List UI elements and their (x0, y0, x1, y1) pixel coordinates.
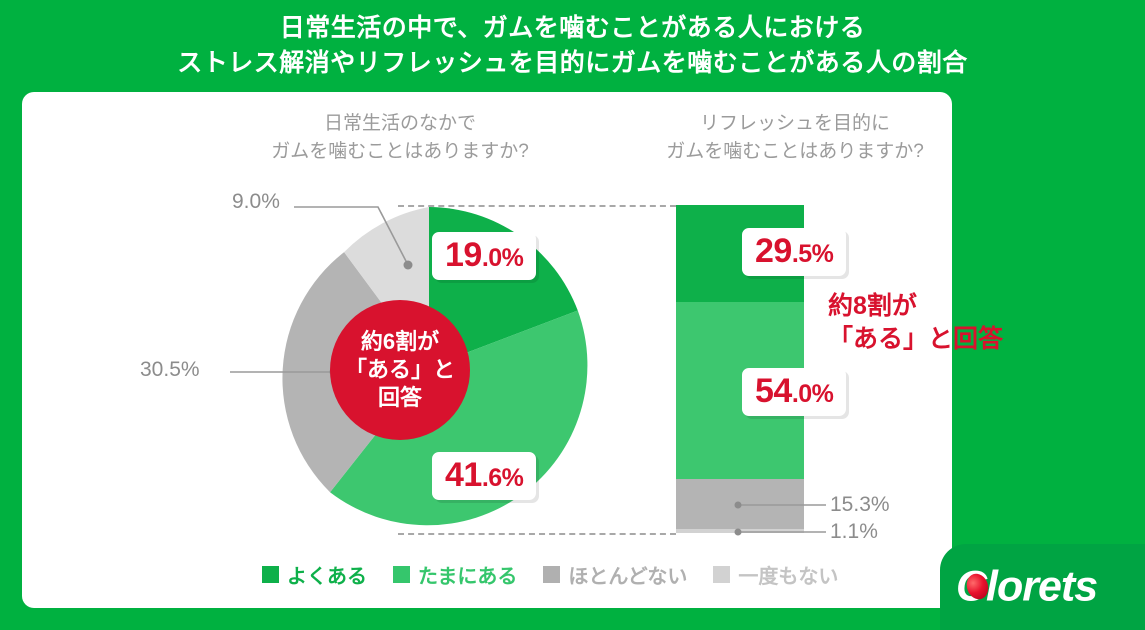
infographic-root: 日常生活の中で、ガムを噛むことがある人における ストレス解消やリフレッシュを目的… (0, 0, 1145, 630)
pie-label-ichidomonai: 9.0% (232, 190, 280, 214)
legend-label-yokuaru: よくある (287, 560, 367, 589)
pie-chart-question: 日常生活のなかで ガムを噛むことはありますか? (205, 110, 595, 165)
pie-callout-yokuaru-int: 19 (445, 236, 482, 274)
header-banner: 日常生活の中で、ガムを噛むことがある人における ストレス解消やリフレッシュを目的… (0, 0, 1145, 92)
legend-item-hotondonai[interactable]: ほとんどない (543, 560, 687, 589)
bar-chart-question: リフレッシュを目的に ガムを噛むことはありますか? (600, 110, 990, 165)
legend-label-tamaniaru: たまにある (418, 560, 517, 589)
legend-item-tamaniaru[interactable]: たまにある (393, 560, 517, 589)
header-title-line-1: 日常生活の中で、ガムを噛むことがある人における (280, 11, 866, 47)
bar-annotation-line-1: 約8割が (828, 290, 1003, 323)
pie-center-label: 約6割が 「ある」と 回答 (330, 300, 470, 440)
bar-segment-ichidomonai (676, 529, 804, 533)
bar-segment-hotondonai (676, 479, 804, 529)
pie-callout-tamaniaru-frac: .6% (482, 464, 524, 492)
pie-center-line-2: 「ある」と (345, 356, 455, 384)
pie-center-line-3: 回答 (378, 384, 422, 412)
bar-callout-tamaniaru-int: 54 (755, 372, 792, 410)
legend-swatch-icon-ichidomonai (713, 566, 730, 583)
bar-question-line-1: リフレッシュを目的に (600, 110, 990, 138)
bar-callout-yokuaru: 29.5% (742, 228, 846, 276)
legend-swatch-icon-yokuaru (262, 566, 279, 583)
pie-callout-yokuaru: 19.0% (432, 232, 536, 280)
legend-label-ichidomonai: 一度もない (738, 560, 838, 589)
pie-center-line-1: 約6割が (361, 328, 439, 356)
bar-callout-yokuaru-int: 29 (755, 232, 792, 270)
bar-question-line-2: ガムを噛むことはありますか? (600, 138, 990, 166)
bar-label-ichidomonai: 1.1% (830, 520, 878, 544)
chart-legend: よくある たまにある ほとんどない 一度もない (262, 560, 838, 589)
bar-label-hotondonai: 15.3% (830, 493, 890, 517)
bar-callout-tamaniaru: 54.0% (742, 368, 846, 416)
legend-item-yokuaru[interactable]: よくある (262, 560, 367, 589)
pie-label-hotondonai: 30.5% (140, 358, 200, 382)
pie-question-line-1: 日常生活のなかで (205, 110, 595, 138)
clorets-logo: Clorets (940, 544, 1145, 630)
legend-swatch-icon-tamaniaru (393, 566, 410, 583)
pie-callout-tamaniaru-int: 41 (445, 456, 482, 494)
legend-item-ichidomonai[interactable]: 一度もない (713, 560, 838, 589)
pie-question-line-2: ガムを噛むことはありますか? (205, 138, 595, 166)
legend-swatch-icon-hotondonai (543, 566, 560, 583)
header-title-line-2: ストレス解消やリフレッシュを目的にガムを噛むことがある人の割合 (177, 46, 968, 82)
pie-callout-yokuaru-frac: .0% (482, 244, 524, 272)
bar-callout-tamaniaru-frac: .0% (792, 380, 834, 408)
bar-annotation-line-2: 「ある」と回答 (828, 323, 1003, 356)
pie-callout-tamaniaru: 41.6% (432, 452, 536, 500)
pie-label-hotondonai-text: 30.5% (140, 358, 200, 381)
bar-callout-yokuaru-frac: .5% (792, 240, 834, 268)
legend-label-hotondonai: ほとんどない (568, 560, 687, 589)
bar-annotation: 約8割が 「ある」と回答 (828, 290, 1003, 355)
